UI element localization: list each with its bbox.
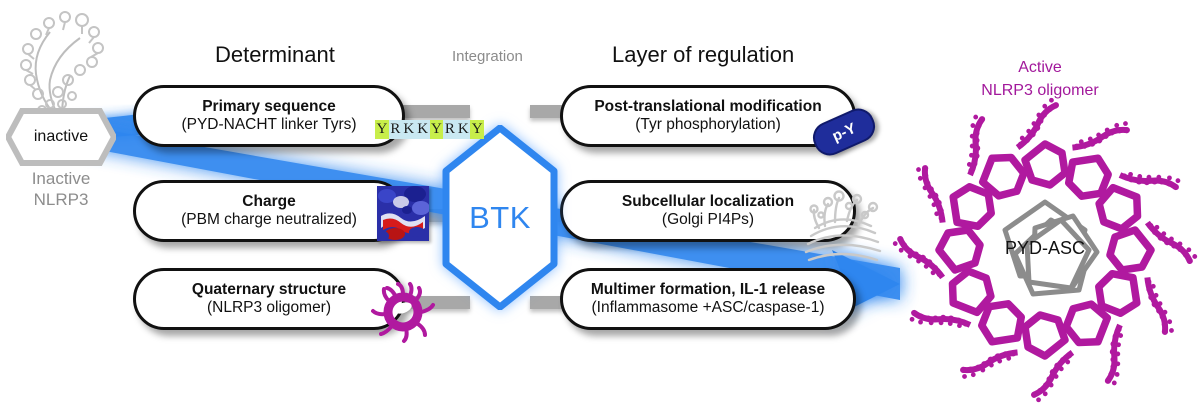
layer-subtitle-3: (Inflammasome +ASC/caspase-1) — [591, 299, 824, 317]
active-nlrp3-caption: Active NLRP3 oligomer — [920, 56, 1160, 102]
determinant-title-2: Charge — [242, 193, 295, 211]
pyd-asc-core-label: PYD-ASC — [965, 238, 1125, 259]
electrostatic-surface-icon — [377, 186, 429, 241]
layer-box-multimer-formation[interactable]: Multimer formation, IL-1 release (Inflam… — [560, 268, 856, 330]
layer-title-3: Multimer formation, IL-1 release — [591, 281, 825, 299]
determinant-title-1: Primary sequence — [202, 98, 336, 116]
aa-5: R — [443, 120, 456, 139]
layer-subtitle-2: (Golgi PI4Ps) — [662, 211, 754, 229]
layer-box-post-translational-modification[interactable]: Post-translational modification (Tyr pho… — [560, 85, 856, 147]
aa-0: Y — [375, 120, 389, 139]
active-caption-line1: Active — [920, 56, 1160, 79]
determinant-title-3: Quaternary structure — [192, 281, 346, 299]
aa-1: R — [389, 120, 402, 139]
determinant-box-quaternary-structure[interactable]: Quaternary structure (NLRP3 oligomer) — [133, 268, 405, 330]
layer-title-2: Subcellular localization — [622, 193, 794, 211]
aa-2: K — [402, 120, 416, 139]
aa-4: Y — [430, 120, 444, 139]
golgi-apparatus-icon — [795, 182, 891, 268]
determinant-subtitle-3: (NLRP3 oligomer) — [207, 299, 331, 317]
aa-6: K — [456, 120, 470, 139]
btk-label: BTK — [440, 125, 560, 310]
determinant-box-charge[interactable]: Charge (PBM charge neutralized) — [133, 180, 405, 242]
active-caption-line2: NLRP3 oligomer — [920, 79, 1160, 102]
determinant-box-primary-sequence[interactable]: Primary sequence (PYD-NACHT linker Tyrs) — [133, 85, 405, 147]
inactive-nlrp3-hexagon: inactive — [6, 108, 116, 166]
determinant-subtitle-2: (PBM charge neutralized) — [181, 211, 357, 229]
aa-3: K — [416, 120, 430, 139]
nlrp3-oligomer-icon — [368, 276, 438, 346]
inactive-hexagon-label: inactive — [6, 108, 116, 166]
py-badge-label: p-Y — [829, 119, 858, 144]
btk-hub[interactable]: BTK — [440, 125, 560, 310]
layer-title-1: Post-translational modification — [594, 98, 821, 116]
determinant-subtitle-1: (PYD-NACHT linker Tyrs) — [181, 116, 356, 134]
amino-acid-sequence: Y R K K Y R K Y — [375, 120, 484, 139]
layer-subtitle-1: (Tyr phosphorylation) — [635, 116, 781, 134]
diagram-canvas: Determinant Integration Layer of regulat… — [0, 0, 1200, 410]
aa-7: Y — [470, 120, 484, 139]
